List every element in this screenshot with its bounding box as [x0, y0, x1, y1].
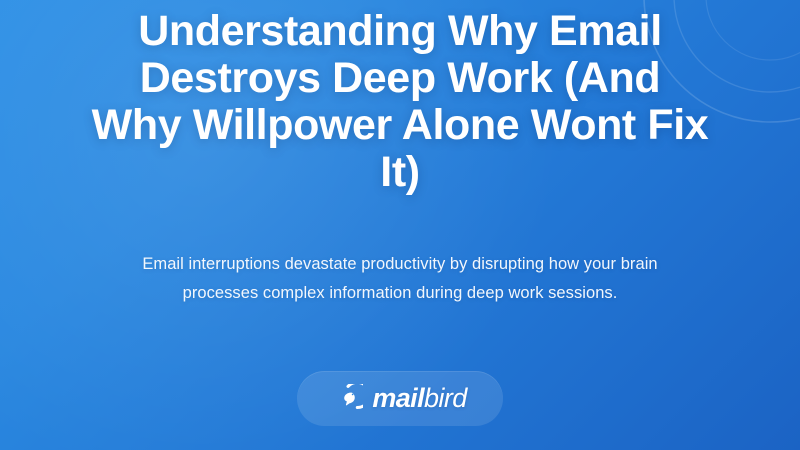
title-slide: Understanding Why Email Destroys Deep Wo… [0, 0, 800, 450]
mailbird-brand-badge: mailbird [297, 371, 503, 426]
page-subtitle: Email interruptions devastate productivi… [110, 196, 690, 308]
wordmark-mail: mail [372, 383, 424, 413]
page-title: Understanding Why Email Destroys Deep Wo… [90, 0, 710, 196]
brand-badge-wrap: mailbird [0, 371, 800, 426]
mailbird-bird-in-circle-icon [333, 384, 363, 414]
mailbird-wordmark: mailbird [372, 385, 466, 412]
wordmark-bird: bird [424, 383, 467, 413]
